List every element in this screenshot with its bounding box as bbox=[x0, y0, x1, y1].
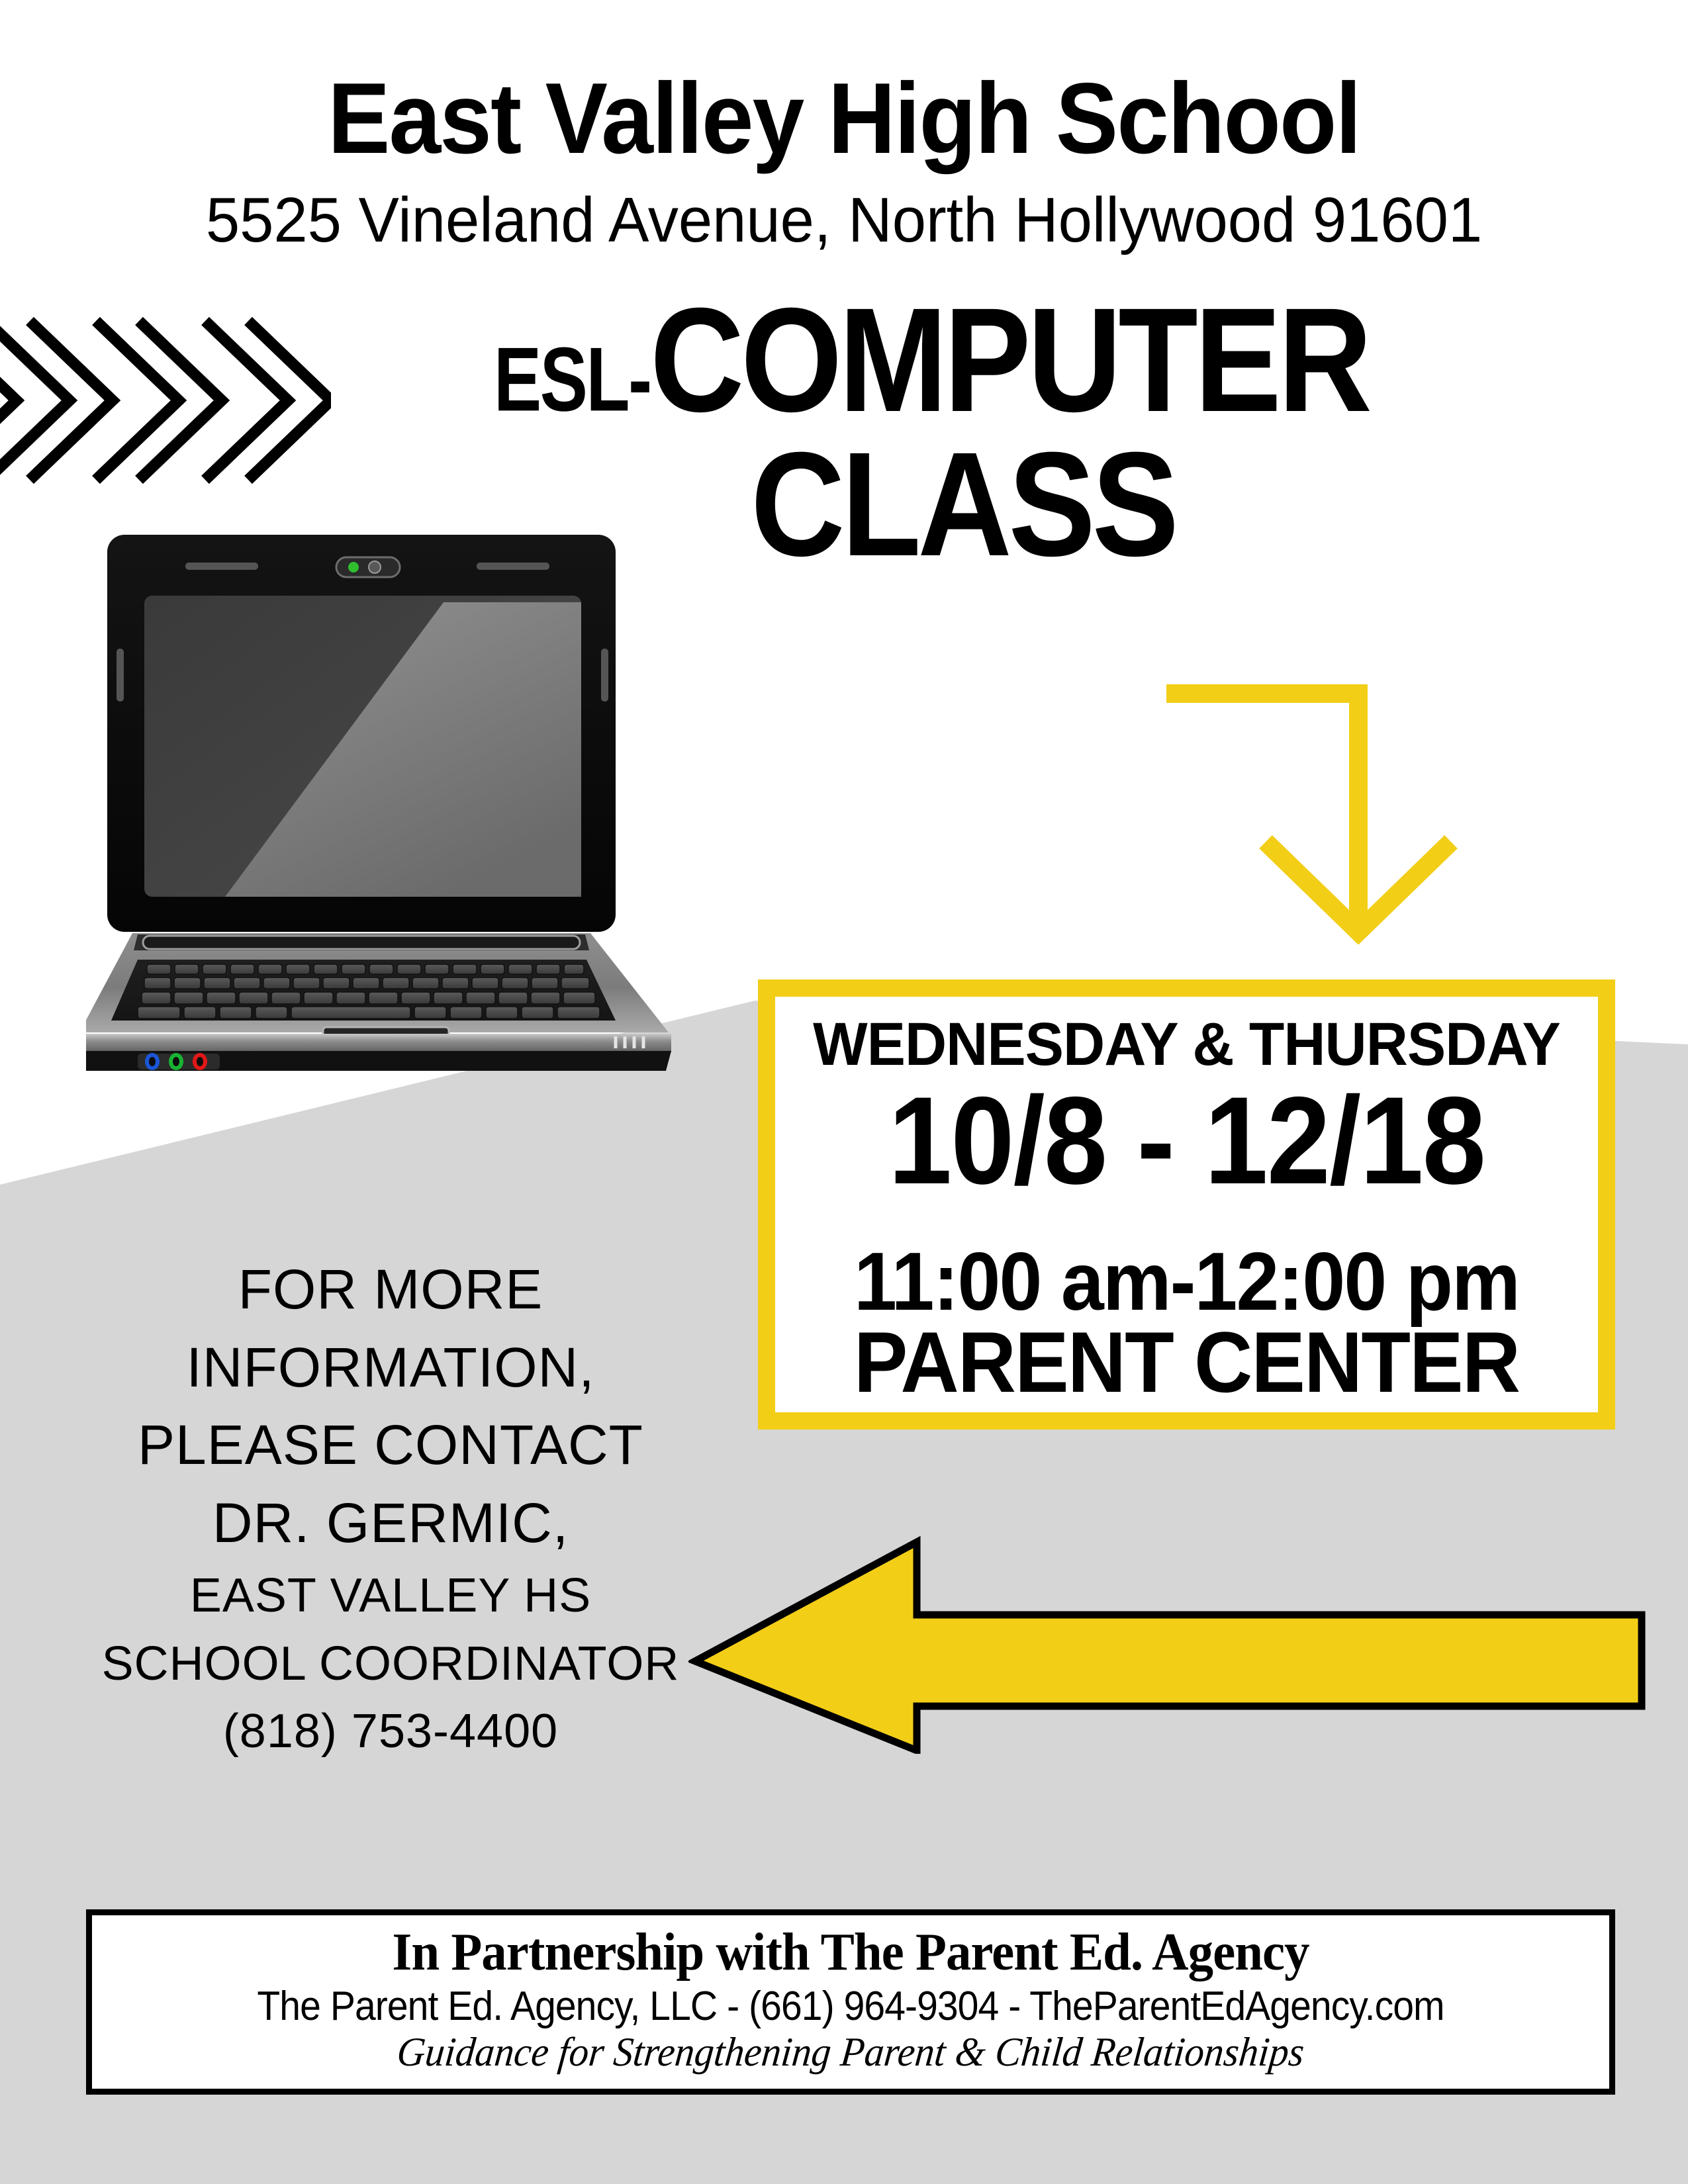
partnership-title: In Partnership with The Parent Ed. Agenc… bbox=[122, 1925, 1579, 1980]
arrow-left-icon bbox=[688, 1535, 1648, 1754]
contact-line-2: INFORMATION, bbox=[40, 1329, 741, 1407]
contact-org: EAST VALLEY HS bbox=[40, 1562, 741, 1629]
contact-phone: (818) 753-4400 bbox=[40, 1698, 741, 1765]
schedule-days: WEDNESDAY & THURSDAY bbox=[807, 1010, 1566, 1079]
arrow-down-icon bbox=[1125, 649, 1523, 946]
partnership-tagline: Guidance for Strengthening Parent & Chil… bbox=[128, 2032, 1573, 2073]
partnership-contact: The Parent Ed. Agency, LLC - (661) 964-9… bbox=[153, 1984, 1549, 2029]
schedule-location: PARENT CENTER bbox=[811, 1319, 1562, 1405]
school-address: 5525 Vineland Avenue, North Hollywood 91… bbox=[34, 184, 1654, 257]
chevron-right-icon bbox=[0, 301, 331, 500]
title-prefix: ESL- bbox=[494, 338, 651, 422]
title-main-line1: COMPUTER bbox=[650, 291, 1369, 429]
partnership-footer-box: In Partnership with The Parent Ed. Agenc… bbox=[86, 1909, 1615, 2095]
contact-line-3: PLEASE CONTACT bbox=[40, 1406, 741, 1484]
schedule-dates: 10/8 - 12/18 bbox=[819, 1075, 1554, 1206]
schedule-box: WEDNESDAY & THURSDAY 10/8 - 12/18 11:00 … bbox=[758, 979, 1615, 1430]
flyer-page: East Valley High School 5525 Vineland Av… bbox=[0, 0, 1688, 2184]
laptop-icon bbox=[86, 529, 715, 1072]
contact-line-1: FOR MORE bbox=[40, 1251, 741, 1329]
schedule-time: 11:00 am-12:00 pm bbox=[811, 1240, 1562, 1324]
page-title: East Valley High School bbox=[59, 61, 1629, 177]
contact-person: DR. GERMIC, bbox=[40, 1484, 741, 1563]
contact-info-block: FOR MORE INFORMATION, PLEASE CONTACT DR.… bbox=[40, 1251, 741, 1765]
contact-role: SCHOOL COORDINATOR bbox=[40, 1630, 741, 1698]
